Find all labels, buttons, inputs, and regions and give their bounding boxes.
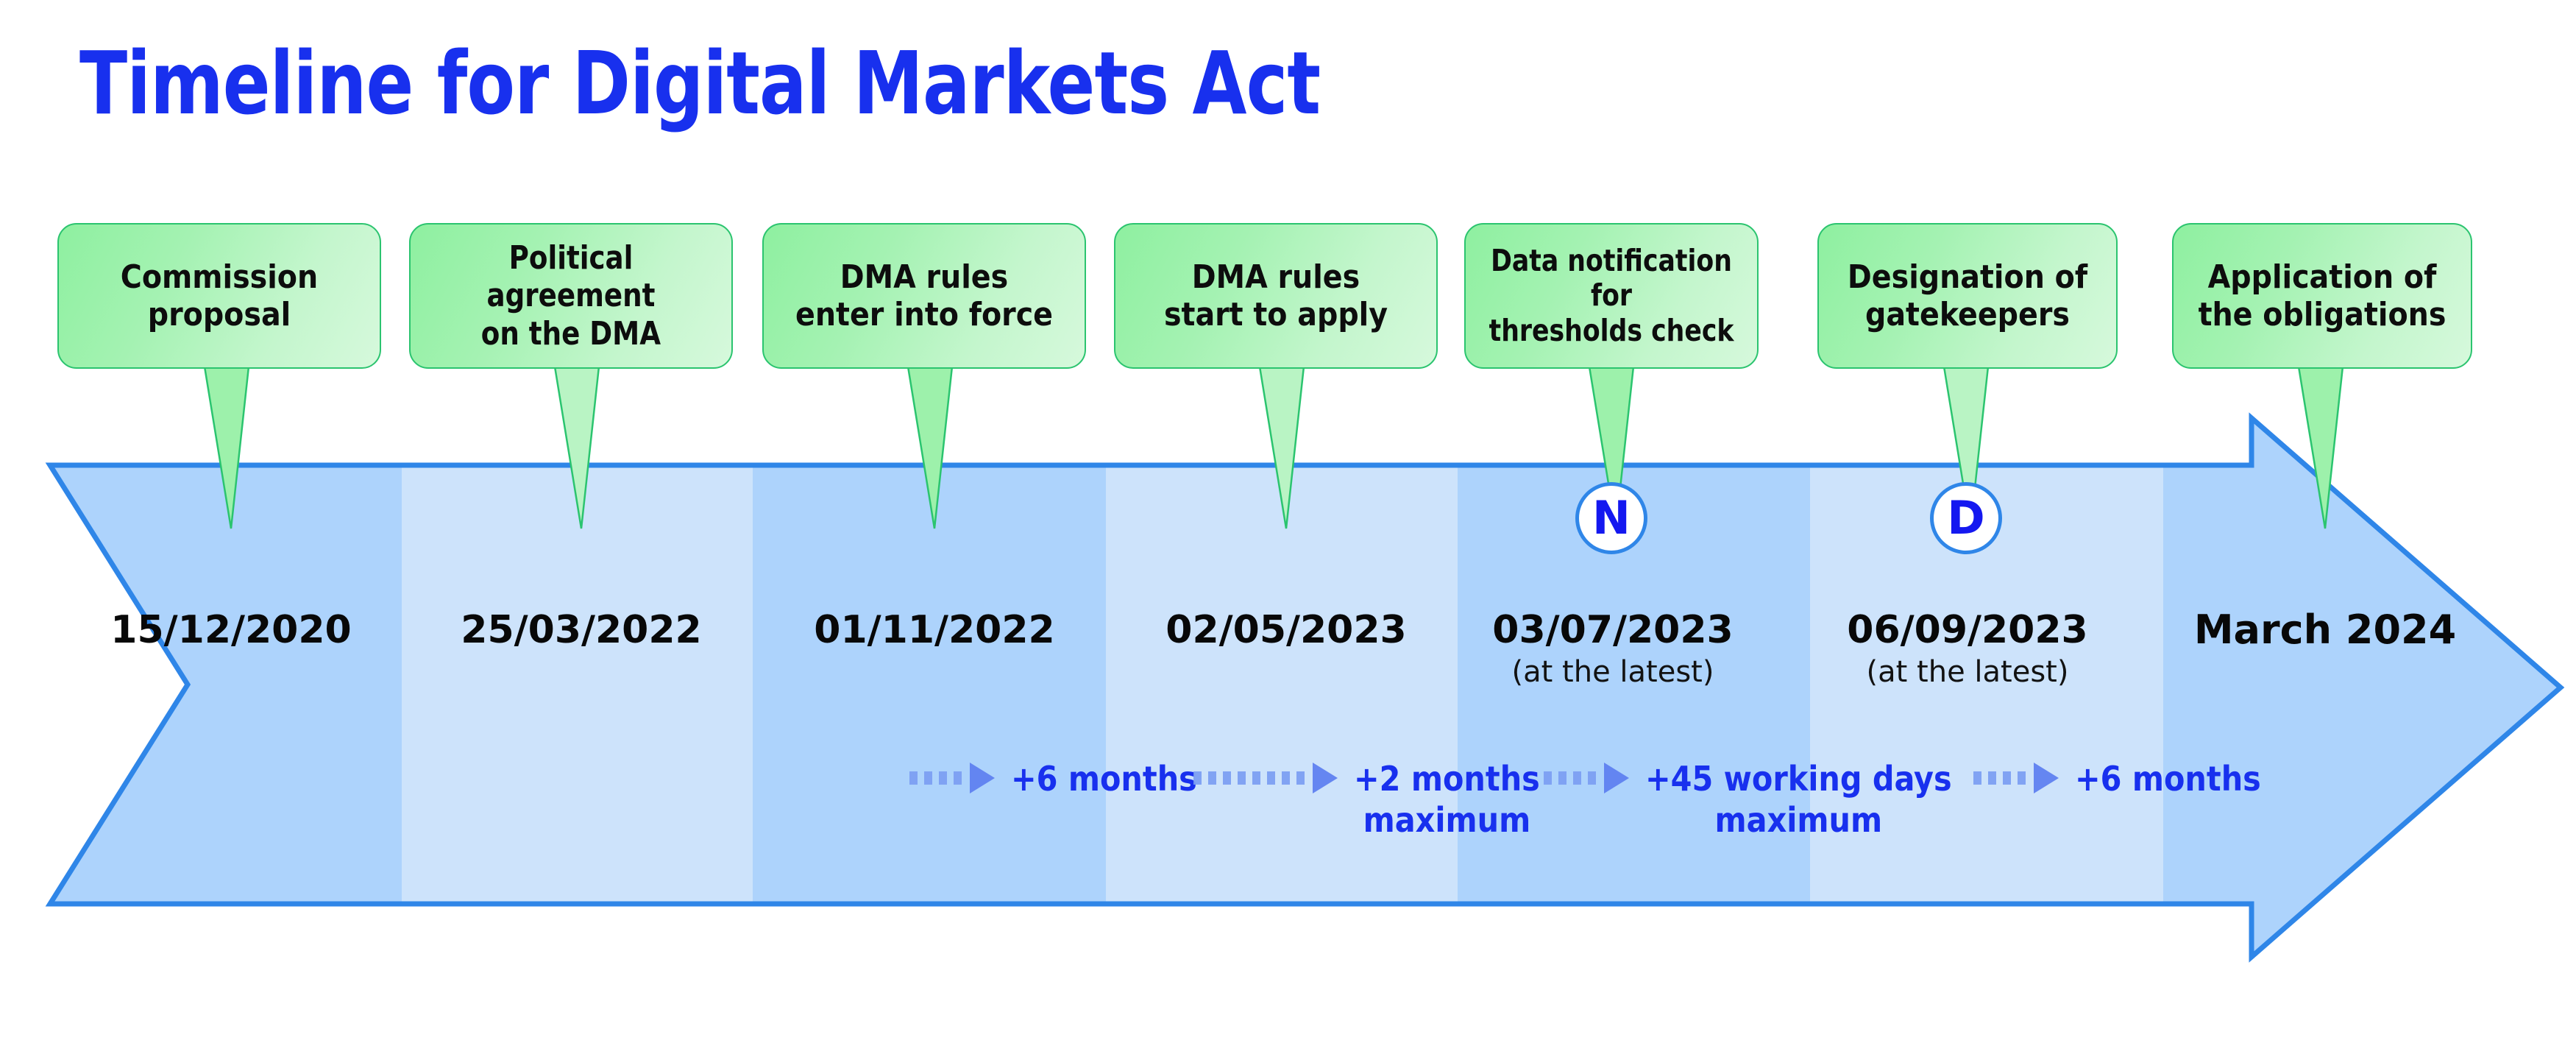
milestone-date-1: 25/03/2022 xyxy=(397,608,765,652)
date-value: 15/12/2020 xyxy=(47,608,415,652)
bubble-line: enter into force xyxy=(795,296,1053,333)
timeline-arrow-graphic xyxy=(0,0,2576,1043)
date-value: 03/07/2023 xyxy=(1429,608,1797,652)
milestone-bubble-application-obligations[interactable]: Application of the obligations xyxy=(2172,223,2472,369)
bubble-line: the obligations xyxy=(2199,296,2447,333)
bubble-line: on the DMA xyxy=(481,315,661,353)
bubble-line: DMA rules xyxy=(795,258,1053,296)
milestone-bubble-political-agreement[interactable]: Political agreement on the DMA xyxy=(409,223,733,369)
date-value: 02/05/2023 xyxy=(1102,608,1470,652)
milestone-bubble-rules-start-apply[interactable]: DMA rules start to apply xyxy=(1114,223,1438,369)
duration-line: +45 working days xyxy=(1645,758,1952,799)
duration-label: +45 working days maximum xyxy=(1645,758,1952,841)
date-value: 06/09/2023 xyxy=(1784,608,2151,652)
marker-letter: D xyxy=(1947,495,1984,541)
milestone-date-3: 02/05/2023 xyxy=(1102,608,1470,652)
milestone-bubble-data-notification[interactable]: Data notification for thresholds check xyxy=(1464,223,1759,369)
bubble-line: Application of xyxy=(2199,258,2447,296)
marker-letter: N xyxy=(1592,495,1631,541)
date-value: March 2024 xyxy=(2141,607,2509,653)
bubble-line: gatekeepers xyxy=(1848,296,2087,333)
milestone-date-2: 01/11/2022 xyxy=(751,608,1118,652)
date-value: 01/11/2022 xyxy=(751,608,1118,652)
bubble-line: Designation of xyxy=(1848,258,2087,296)
milestone-bubble-rules-enter-force[interactable]: DMA rules enter into force xyxy=(762,223,1086,369)
duration-label: +6 months xyxy=(1011,758,1197,799)
milestone-bubble-commission-proposal[interactable]: Commission proposal xyxy=(57,223,381,369)
bubble-line: Data notification for xyxy=(1480,244,1742,314)
duration-connector-3: +6 months xyxy=(1973,758,2261,799)
milestone-date-4: 03/07/2023 (at the latest) xyxy=(1429,608,1797,689)
duration-line: maximum xyxy=(1645,799,1952,841)
date-note: (at the latest) xyxy=(1429,655,1797,689)
bubble-line: Political agreement xyxy=(426,239,717,314)
dotted-arrow-icon xyxy=(1544,770,1629,786)
milestone-date-6: March 2024 xyxy=(2141,607,2509,653)
duration-connector-2: +45 working days maximum xyxy=(1544,758,1952,841)
page-title: Timeline for Digital Markets Act xyxy=(79,38,1320,130)
duration-line: +2 months xyxy=(1354,758,1540,799)
bubble-line: Commission xyxy=(121,258,318,296)
bubble-line: DMA rules xyxy=(1164,258,1388,296)
dotted-arrow-icon xyxy=(1973,770,2059,786)
bubble-line: start to apply xyxy=(1164,296,1388,333)
dotted-arrow-icon xyxy=(1193,770,1338,786)
date-note: (at the latest) xyxy=(1784,655,2151,689)
duration-label: +6 months xyxy=(2075,758,2261,799)
duration-connector-1: +2 months maximum xyxy=(1193,758,1540,841)
duration-line: +6 months xyxy=(1011,758,1197,799)
bubble-line: proposal xyxy=(121,296,318,333)
duration-connector-0: +6 months xyxy=(909,758,1197,799)
marker-circle-notification[interactable]: N xyxy=(1575,482,1647,554)
dotted-arrow-icon xyxy=(909,770,995,786)
bubble-line: thresholds check xyxy=(1489,314,1734,349)
milestone-date-0: 15/12/2020 xyxy=(47,608,415,652)
marker-circle-designation[interactable]: D xyxy=(1930,482,2002,554)
milestone-date-5: 06/09/2023 (at the latest) xyxy=(1784,608,2151,689)
date-value: 25/03/2022 xyxy=(397,608,765,652)
milestone-bubble-designation-gatekeepers[interactable]: Designation of gatekeepers xyxy=(1817,223,2118,369)
duration-line: +6 months xyxy=(2075,758,2261,799)
duration-line: maximum xyxy=(1354,799,1540,841)
duration-label: +2 months maximum xyxy=(1354,758,1540,841)
